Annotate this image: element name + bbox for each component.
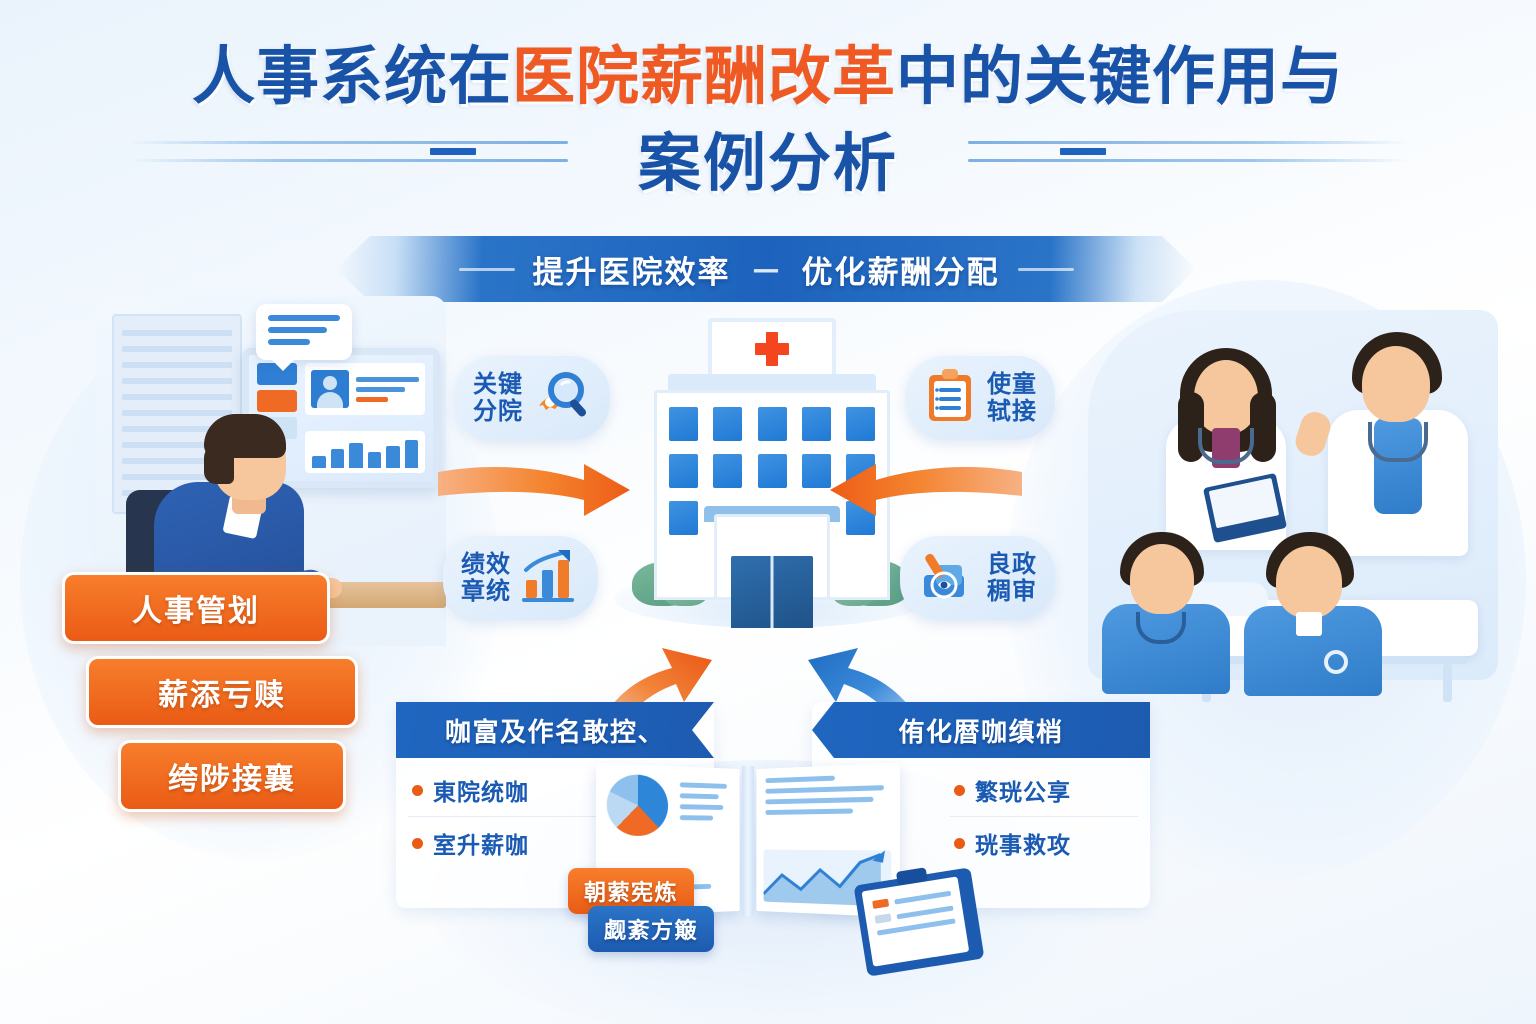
magnifier-gear-icon [532,368,592,428]
list-item-label: 繁珖公享 [975,773,1071,807]
banner-separator: — [749,254,784,285]
bar-chart-arrow-icon [520,548,580,608]
hospital-door [731,556,813,628]
hospital-window [846,407,875,441]
officer-sideburn [204,442,234,484]
page-title-line2-row: 案例分析 [0,121,1536,197]
nurse-left-head [1130,544,1194,614]
medical-team-illustration [1078,300,1498,720]
hospital-window [669,407,698,441]
pill-data-research[interactable]: 良政稠审 [900,536,1055,620]
employee-avatar-icon [311,370,349,408]
dashboard-tile-2 [257,390,297,412]
nurse-left [1096,530,1236,690]
bullet-dot-icon [412,785,423,796]
female-doctor [1156,340,1296,550]
microscope-pen-icon [918,547,978,609]
chip-hr-management[interactable]: 人事管划 [62,572,330,644]
arrow-left-to-hospital [434,458,634,522]
pill-system-docking-label: 使童轼接 [987,371,1037,425]
chip-performance-review[interactable]: 绔陟接襄 [118,740,346,812]
hospital-window [713,407,742,441]
clipboard-checklist-icon [924,367,978,429]
panel-case-analysis-list: 東院统咖 室升薪咖 [408,764,596,869]
infographic-canvas: 人事系统在医院薪酬改革中的关键作用与 案例分析 提升医院效率 — 优化薪酬分配 [0,0,1536,1024]
red-cross-icon [755,332,789,366]
hospital-window-row-1 [669,407,875,441]
page-header: 人事系统在医院薪酬改革中的关键作用与 案例分析 [0,42,1536,197]
feature-chip-list: 人事管划 薪添亏赎 绔陟接襄 [62,572,392,824]
page-title-line2: 案例分析 [624,113,912,204]
hospital-window [669,501,698,535]
hospital-window [669,454,698,488]
female-doctor-hair-strand-right [1250,392,1276,462]
list-item-label: 東院统咖 [433,773,529,807]
nurse-right-collar [1296,612,1322,636]
list-item-label: 珖事救攻 [975,826,1071,860]
list-item[interactable]: 繁珖公享 [950,764,1138,817]
stethoscope-icon [1198,428,1254,464]
panel-case-analysis-header: 咖富及作名敢控、 [396,702,714,758]
dashboard-bar-chart [305,431,425,473]
banner-rule-right [1018,268,1074,271]
bullet-dot-icon [954,785,965,796]
speech-bubble-icon [256,304,352,360]
title-segment-1: 人事系统在 [192,40,512,113]
title-dash-right [1060,148,1106,155]
panel-optimize-structure-list: 繁珖公享 珖事救攻 [950,764,1138,869]
chip-salary-allocation[interactable]: 薪添亏赎 [86,656,358,728]
bed-leg [1443,664,1452,702]
stethoscope-icon [1368,422,1428,462]
pill-performance-stats[interactable]: 绩效章统 [443,536,598,620]
list-item[interactable]: 珖事救攻 [950,817,1138,869]
banner-rule-left [459,268,515,271]
bullet-dot-icon [412,838,423,849]
clipboard-paper [862,876,970,966]
employee-detail-lines [356,377,419,402]
pill-system-docking[interactable]: 使童轼接 [906,356,1055,440]
tag-plan[interactable]: 觑紊方簸 [588,906,714,952]
title-rule-left-upper [128,141,568,144]
male-doctor [1320,326,1476,556]
title-segment-3: 中的关键作用与 [896,40,1344,113]
list-item[interactable]: 東院统咖 [408,764,596,817]
title-dash-left [430,148,476,155]
pill-data-research-label: 良政稠审 [987,551,1037,605]
title-rule-right-lower [968,159,1408,162]
banner-text-left: 提升医院效率 [533,247,731,292]
hospital-window [802,407,831,441]
hospital-window [758,407,787,441]
pill-key-analysis[interactable]: 关键分院 [455,356,610,440]
pill-performance-stats-label: 绩效章统 [461,551,511,605]
page-title-line1: 人事系统在医院薪酬改革中的关键作用与 [0,42,1536,113]
clipboard-illustration [854,867,985,976]
title-segment-highlight: 医院薪酬改革 [512,40,896,113]
list-item-label: 室升薪咖 [433,826,529,860]
subtitle-banner: 提升医院效率 — 优化薪酬分配 [336,236,1196,302]
pill-key-analysis-label: 关键分院 [473,371,523,425]
hospital-sign [708,318,836,380]
book-pie-chart [607,774,668,836]
banner-text-right: 优化薪酬分配 [802,247,1000,292]
male-doctor-head [1362,346,1430,422]
title-rule-right-upper [968,141,1408,144]
nurse-right [1238,532,1388,692]
hospital-window [758,454,787,488]
list-item[interactable]: 室升薪咖 [408,817,596,869]
book-spine [742,766,754,916]
nurse-right-head [1276,546,1342,618]
title-rule-left-lower [128,159,568,162]
arrow-right-to-hospital [826,458,1026,522]
bullet-dot-icon [954,838,965,849]
hospital-window [713,454,742,488]
stethoscope-icon [1324,650,1348,674]
employee-profile-card [305,363,425,415]
